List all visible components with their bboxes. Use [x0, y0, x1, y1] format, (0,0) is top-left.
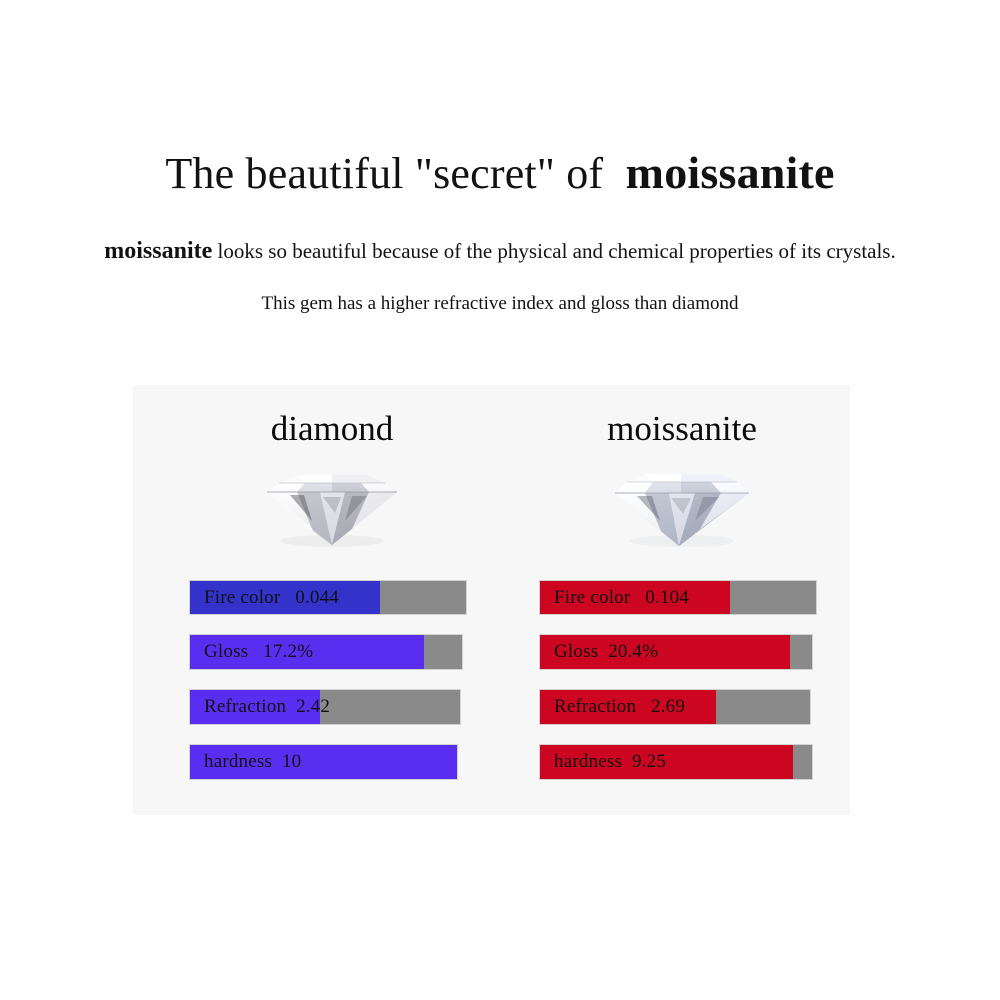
- bar-row: Fire color 0.044: [190, 581, 466, 614]
- bar-label: Refraction 2.69: [554, 690, 685, 724]
- bar-row: Refraction 2.69: [540, 690, 810, 724]
- bar-label: Refraction 2.42: [204, 690, 330, 724]
- bar-label: hardness 10: [204, 745, 301, 779]
- subtitle-line-1-text: looks so beautiful because of the physic…: [212, 239, 895, 263]
- bar-row: Fire color 0.104: [540, 581, 816, 614]
- bar-group-moissanite: Fire color 0.104 Gloss 20.4% Refraction …: [540, 581, 816, 800]
- bar-label: Gloss 20.4%: [554, 635, 658, 669]
- column-diamond: diamond: [157, 385, 507, 815]
- bar-label: Fire color 0.044: [204, 581, 339, 614]
- column-title-diamond: diamond: [157, 407, 507, 451]
- brilliant-cut-diamond-icon: [257, 469, 407, 551]
- page-root: The beautiful "secret" of moissanite moi…: [0, 0, 1000, 1000]
- subtitle-line-2: This gem has a higher refractive index a…: [0, 290, 1000, 318]
- bar-row: Refraction 2.42: [190, 690, 460, 724]
- bar-label: Fire color 0.104: [554, 581, 689, 614]
- bar-row: hardness 9.25: [540, 745, 812, 779]
- column-moissanite: moissanite: [507, 385, 857, 815]
- comparison-panel: diamond: [133, 385, 850, 815]
- bar-row: hardness 10: [190, 745, 457, 779]
- bar-label: hardness 9.25: [554, 745, 666, 779]
- bar-row: Gloss 17.2%: [190, 635, 462, 669]
- column-title-moissanite: moissanite: [507, 407, 857, 451]
- brilliant-cut-moissanite-icon: [607, 469, 757, 551]
- bar-row: Gloss 20.4%: [540, 635, 812, 669]
- bar-group-diamond: Fire color 0.044 Gloss 17.2% Refraction …: [190, 581, 466, 800]
- page-title-prefix: The beautiful "secret" of: [165, 149, 625, 198]
- subtitle-emphasis: moissanite: [104, 238, 212, 264]
- bar-label: Gloss 17.2%: [204, 635, 313, 669]
- subtitle-line-1: moissanite looks so beautiful because of…: [0, 236, 1000, 266]
- page-title: The beautiful "secret" of moissanite: [0, 143, 1000, 204]
- page-title-emphasis: moissanite: [626, 147, 835, 198]
